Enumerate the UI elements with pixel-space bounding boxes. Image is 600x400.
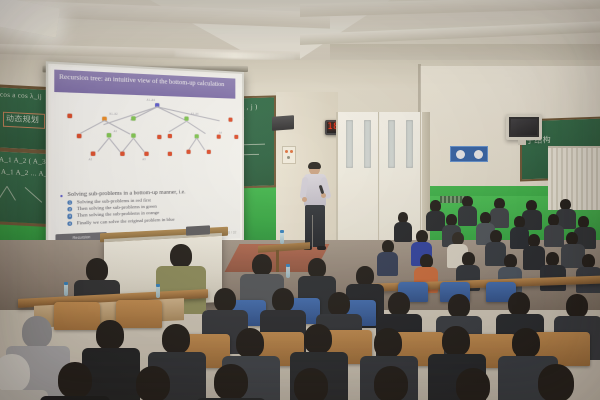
tree-node-label: A1..A4 — [146, 99, 154, 102]
person-head — [214, 288, 236, 312]
tree-node-label: A1 — [113, 130, 117, 133]
person-head — [304, 324, 332, 354]
person-head — [582, 254, 595, 268]
bottle-cap — [286, 264, 290, 267]
door-window — [346, 120, 353, 168]
wall-mounted-monitor — [506, 114, 542, 140]
door-window — [388, 120, 395, 168]
tree-edge — [188, 138, 197, 151]
sign-icon — [474, 150, 483, 159]
person-head — [546, 252, 559, 266]
person-head — [456, 368, 490, 400]
tree-node-leaf — [187, 150, 191, 154]
tree-node-leaf — [168, 134, 172, 138]
tree-node-label: A2 — [88, 158, 92, 161]
water-bottle — [64, 284, 68, 296]
bottle-cap — [156, 284, 160, 287]
chalk-text: 动态规划 — [6, 114, 39, 125]
ceiling-speaker — [272, 115, 294, 131]
tree-edge — [196, 138, 205, 151]
tree-node-leaf — [91, 152, 96, 156]
person-head — [252, 254, 272, 276]
ceiling-beam — [300, 0, 600, 17]
tree-node-label: A3 — [142, 158, 145, 161]
tree-edge — [97, 138, 109, 152]
person-head — [374, 366, 408, 400]
person-head — [420, 254, 433, 268]
water-bottle — [156, 286, 160, 298]
tree-node-leaf — [234, 135, 238, 139]
tree-edge — [109, 138, 121, 152]
person-head — [214, 364, 248, 400]
tree-edge — [186, 121, 205, 134]
person-body — [458, 206, 477, 226]
recursion-tree-diagram: A1..A4 A1..A2 A3..A4 — [55, 98, 236, 185]
tree-node-leaf — [144, 152, 148, 156]
tree-edge — [122, 138, 134, 152]
person-head — [86, 258, 108, 282]
tree-node-leaf — [168, 152, 172, 156]
person-head — [388, 292, 410, 316]
tree-node-leaf — [120, 152, 124, 156]
tree-node-label: A3..A4 — [191, 113, 199, 116]
chalk-text: A_1 A_2 ... A_n — [1, 168, 51, 180]
person-head — [58, 362, 92, 398]
person-head — [566, 294, 588, 318]
sign-icon — [456, 150, 465, 159]
person-head — [136, 366, 170, 400]
tree-node-l1 — [131, 116, 135, 120]
no-smoking-sign — [451, 147, 469, 161]
socket-indicator — [285, 150, 288, 153]
tree-edge — [133, 138, 145, 152]
tree-node-leaf — [229, 118, 233, 122]
person-head — [236, 328, 264, 358]
audience — [0, 196, 600, 400]
person-body — [40, 396, 110, 400]
socket-indicator — [290, 150, 293, 153]
person-body — [544, 225, 564, 247]
person-body — [377, 252, 398, 276]
seat-back — [116, 300, 162, 328]
person-body — [485, 242, 506, 266]
person-head — [504, 254, 517, 268]
person-head — [22, 316, 52, 348]
door-window — [406, 120, 413, 168]
slide-title: Recursion tree: an intuitive view of the… — [54, 70, 235, 99]
person-head — [508, 292, 530, 316]
wall-sign-pair — [450, 146, 488, 162]
tree-node-leaf — [67, 114, 72, 119]
tree-edge — [169, 121, 187, 133]
person-head — [374, 328, 402, 358]
person-head — [356, 266, 374, 286]
lecturer-hair — [308, 162, 321, 169]
person-head — [308, 258, 326, 278]
person-head — [96, 320, 124, 350]
monitor-mount-arm — [518, 140, 526, 145]
person-head — [538, 364, 574, 400]
notice-sign — [469, 147, 487, 161]
person-head — [512, 328, 540, 358]
person-head — [442, 326, 470, 356]
tree-node-leaf — [207, 150, 211, 154]
tree-node-leaf — [217, 135, 221, 139]
tree-edge — [80, 120, 104, 134]
person-head — [448, 294, 470, 318]
tree-node-label: A4 — [219, 132, 222, 135]
door-window — [364, 120, 371, 168]
socket-indicator — [287, 156, 290, 159]
bottle-cap — [64, 282, 68, 285]
person-head — [162, 324, 190, 354]
person-body — [561, 244, 585, 268]
wall-socket-panel — [282, 146, 296, 164]
lecture-hall-photo: cos a cos λ_ij 动态规划 A_1 A_2 ( A_3 A_4 A_… — [0, 0, 600, 400]
monitor-screen — [511, 119, 537, 135]
tree-node-leaf — [77, 134, 82, 138]
chalk-text: cos a cos λ_ij — [0, 91, 42, 102]
person-head — [462, 252, 475, 266]
person-head — [294, 368, 328, 400]
person-body — [394, 222, 412, 242]
person-head — [170, 244, 192, 268]
person-head — [328, 292, 350, 316]
seat-back — [54, 302, 100, 330]
water-bottle — [286, 266, 290, 278]
person-head — [0, 354, 30, 392]
person-head — [272, 288, 294, 312]
tree-node-leaf — [157, 135, 161, 139]
tree-node-label: A1..A2 — [109, 112, 118, 115]
